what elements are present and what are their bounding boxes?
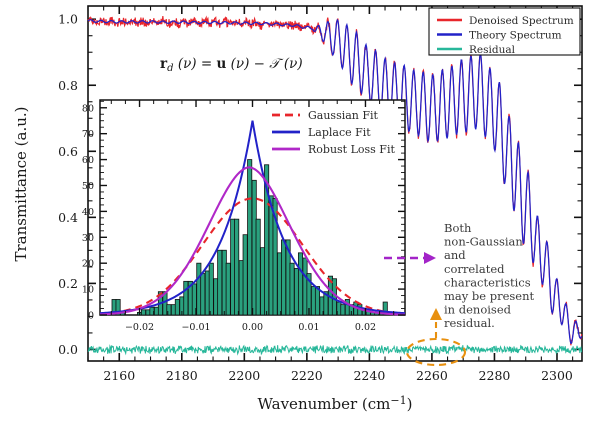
histogram-bar: [175, 299, 179, 315]
y-tick-label: 0.2: [58, 276, 78, 291]
x-tick-label: 2240: [353, 368, 385, 383]
annotation-line: in denoised: [444, 303, 512, 317]
x-axis-label: Wavenumber (cm−1): [258, 394, 413, 413]
figure-root: 21602180220022202240226022802300 0.00.20…: [0, 0, 600, 421]
histogram-bar: [298, 253, 302, 315]
x-tick-label: 2300: [541, 368, 573, 383]
annotation-line: may be present: [444, 289, 535, 303]
inset-y-tick-label: 40: [82, 207, 94, 218]
x-tick-label: 2160: [103, 368, 135, 383]
x-tick-label: 2220: [291, 368, 323, 383]
inset-y-tick-label: 50: [82, 181, 94, 192]
x-tick-label: 2260: [416, 368, 448, 383]
histogram-bar: [235, 219, 239, 315]
histogram-bar: [218, 250, 222, 315]
inset-y-tick-label: 60: [82, 155, 94, 166]
annotation-line: correlated: [444, 262, 505, 276]
histogram-bar: [141, 310, 145, 315]
histogram-bar: [315, 287, 319, 315]
annotation-line: non-Gaussian: [444, 235, 523, 249]
inset-y-tick-label: 20: [82, 259, 94, 270]
inset-y-tick-label: 70: [82, 129, 94, 140]
inset-y-tick-label: 10: [82, 285, 94, 296]
inset-legend-label-1: Laplace Fit: [308, 126, 371, 139]
residual-equation: rd (ν) = u (ν) − 𝒯 (ν): [160, 56, 303, 74]
main-legend: Denoised SpectrumTheory SpectrumResidual: [429, 8, 580, 56]
inset-legend-label-2: Robust Loss Fit: [308, 143, 395, 156]
y-tick-label: 1.0: [58, 12, 78, 27]
y-tick-label: 0.4: [58, 210, 78, 225]
histogram-bar: [201, 274, 205, 315]
main-legend-label-1: Theory Spectrum: [469, 30, 562, 42]
annotation-line: and: [444, 248, 466, 262]
inset-x-tick-label: 0.02: [355, 322, 376, 333]
x-tick-label: 2200: [228, 368, 260, 383]
histogram-bar: [256, 219, 260, 315]
inset-legend-label-0: Gaussian Fit: [308, 109, 379, 122]
inset-x-tick-label: 0.00: [242, 322, 263, 333]
annotation-line: characteristics: [444, 275, 531, 289]
y-tick-label: 0.6: [58, 144, 78, 159]
histogram-bar: [341, 305, 345, 315]
histogram-bar: [290, 263, 294, 315]
inset-y-tick-labels: 01020304050607080: [82, 103, 94, 321]
histogram-bar: [226, 263, 230, 315]
inset-y-tick-label: 0: [88, 311, 94, 322]
histogram-bar: [281, 240, 285, 315]
x-tick-label: 2180: [166, 368, 198, 383]
y-tick-label: 0.8: [58, 78, 78, 93]
annotation-line: Both: [444, 221, 472, 235]
y-axis-label: Transmittance (a.u.): [12, 106, 30, 261]
annotation-line: residual.: [444, 316, 495, 330]
x-tick-label: 2280: [479, 368, 511, 383]
main-legend-label-2: Residual: [469, 44, 516, 56]
histogram-bar: [184, 281, 188, 315]
inset-x-tick-label: 0.01: [298, 322, 319, 333]
inset-y-tick-label: 30: [82, 233, 94, 244]
histogram-bar: [243, 235, 247, 315]
inset-x-tick-label: −0.01: [181, 322, 210, 333]
inset-y-tick-label: 80: [82, 103, 94, 114]
histogram-bar: [209, 263, 213, 315]
main-legend-label-0: Denoised Spectrum: [469, 15, 574, 27]
spectrum-figure: 21602180220022202240226022802300 0.00.20…: [0, 0, 600, 421]
histogram-bar: [248, 160, 252, 315]
inset-x-tick-label: −0.02: [125, 322, 154, 333]
y-tick-label: 0.0: [58, 342, 78, 357]
